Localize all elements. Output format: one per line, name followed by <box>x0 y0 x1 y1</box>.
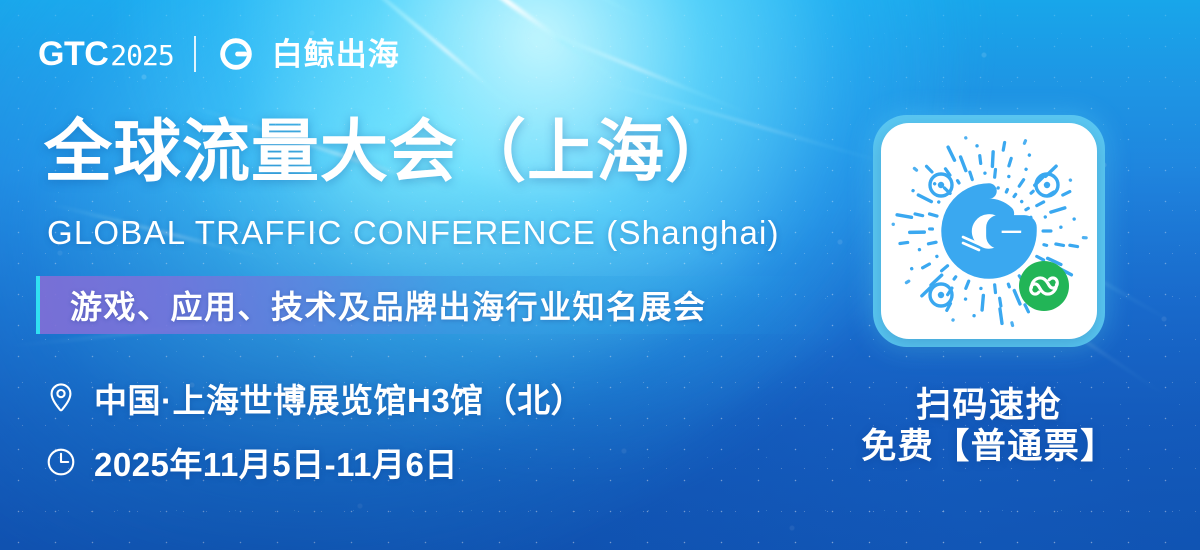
location-pin-icon <box>44 381 78 415</box>
qr-caption: 扫码速抢 免费【普通票】 <box>853 385 1125 468</box>
wechat-miniprogram-icon <box>1019 261 1069 311</box>
banner-content: GTC 2025 白鲸出海 全球流量大会（上海） GLOBAL TRAFFIC … <box>0 0 1200 550</box>
gtc-wordmark: GTC <box>38 37 108 71</box>
page-subtitle: GLOBAL TRAFFIC CONFERENCE (Shanghai) <box>47 216 780 249</box>
clock-icon <box>44 445 78 479</box>
event-details: 中国·上海世博展览馆H3馆（北） 2025年11月5日-11月6日 <box>44 374 584 486</box>
slogan-text: 游戏、应用、技术及品牌出海行业知名展会 <box>70 282 707 328</box>
qr-caption-line-1: 扫码速抢 <box>853 385 1125 426</box>
venue-text: 中国·上海世博展览馆H3馆（北） <box>94 374 584 422</box>
slogan-banner: 游戏、应用、技术及品牌出海行业知名展会 <box>36 276 826 334</box>
slogan-accent-bar <box>36 276 40 334</box>
qr-code-card[interactable] <box>881 123 1097 339</box>
qr-caption-line-2: 免费【普通票】 <box>853 426 1125 467</box>
venue-line: 中国·上海世博展览馆H3馆（北） <box>44 374 584 422</box>
date-line: 2025年11月5日-11月6日 <box>44 438 584 486</box>
wechat-miniprogram-qr-code <box>881 123 1097 339</box>
whale-g-logo-icon <box>216 34 256 74</box>
logo-divider <box>194 36 196 72</box>
logo-bar: GTC 2025 白鲸出海 <box>38 33 400 75</box>
gtc-year: 2025 <box>110 42 173 70</box>
gtc-2025-promo-banner: GTC 2025 白鲸出海 全球流量大会（上海） GLOBAL TRAFFIC … <box>0 0 1200 550</box>
date-text: 2025年11月5日-11月6日 <box>94 438 458 486</box>
page-title: 全球流量大会（上海） <box>44 118 734 187</box>
brand-name: 白鲸出海 <box>272 39 400 70</box>
gtc-logo: GTC 2025 <box>38 37 174 71</box>
